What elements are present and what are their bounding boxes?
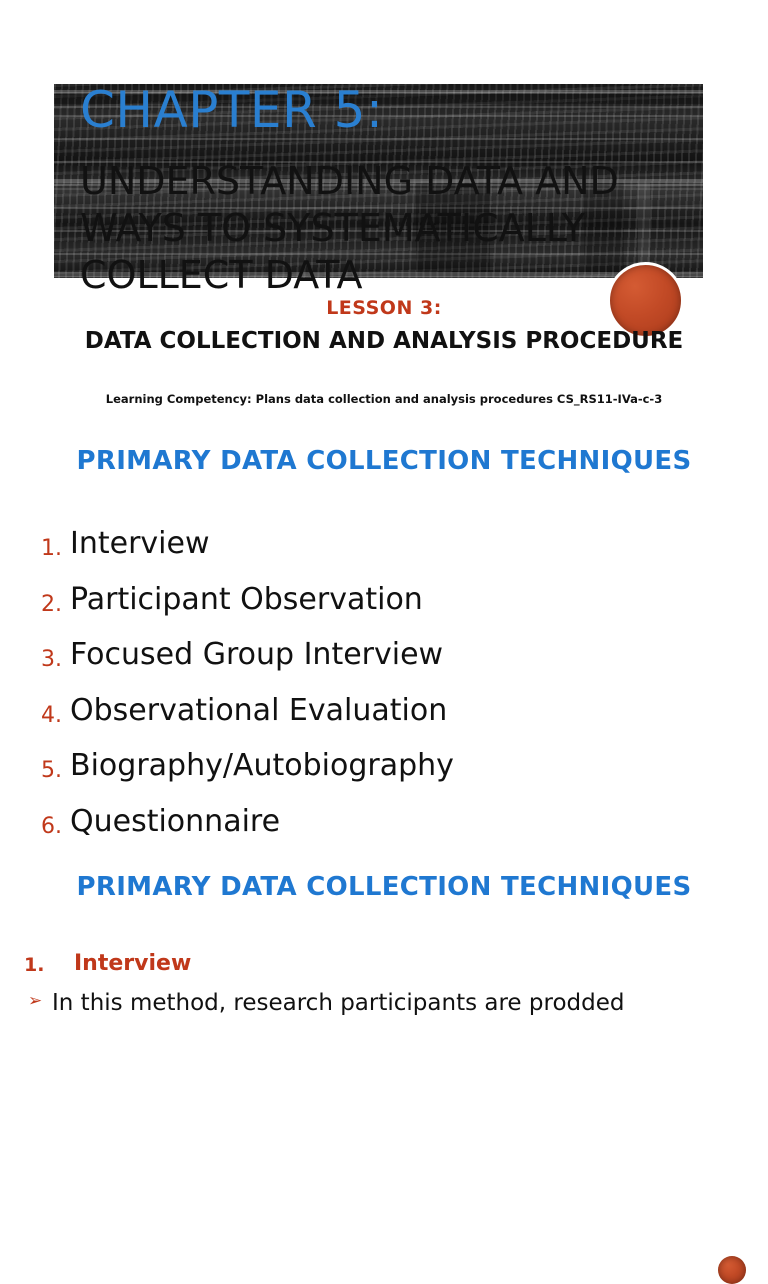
list-item: Interview xyxy=(70,516,454,572)
lesson-title: DATA COLLECTION AND ANALYSIS PROCEDURE xyxy=(84,327,684,356)
decorative-circle-small xyxy=(718,1256,746,1284)
lesson-label: LESSON 3: xyxy=(0,297,768,319)
section-heading: PRIMARY DATA COLLECTION TECHNIQUES xyxy=(0,870,768,905)
list-item: Observational Evaluation xyxy=(70,683,454,739)
page-subtitle: UNDERSTANDING DATA AND WAYS TO SYSTEMATI… xyxy=(80,158,700,299)
list-item: Questionnaire xyxy=(70,794,454,850)
slide-title: CHAPTER 5: UNDERSTANDING DATA AND WAYS T… xyxy=(0,0,768,430)
item-number: 1. xyxy=(24,954,44,976)
list-item: Focused Group Interview xyxy=(70,627,454,683)
slide-interview-detail: PRIMARY DATA COLLECTION TECHNIQUES 1. In… xyxy=(0,862,768,1024)
arrow-bullet-icon: ➢ xyxy=(28,991,42,1011)
learning-competency: Learning Competency: Plans data collecti… xyxy=(84,392,684,406)
list-item: Biography/Autobiography xyxy=(70,738,454,794)
page-title: CHAPTER 5: xyxy=(80,84,700,136)
section-heading: PRIMARY DATA COLLECTION TECHNIQUES xyxy=(0,444,768,479)
list-item: Participant Observation xyxy=(70,572,454,628)
slide-techniques-list: PRIMARY DATA COLLECTION TECHNIQUES Inter… xyxy=(0,430,768,860)
item-title: Interview xyxy=(74,951,191,976)
bullet-text: In this method, research participants ar… xyxy=(52,988,762,1018)
techniques-list: Interview Participant Observation Focuse… xyxy=(22,516,454,849)
